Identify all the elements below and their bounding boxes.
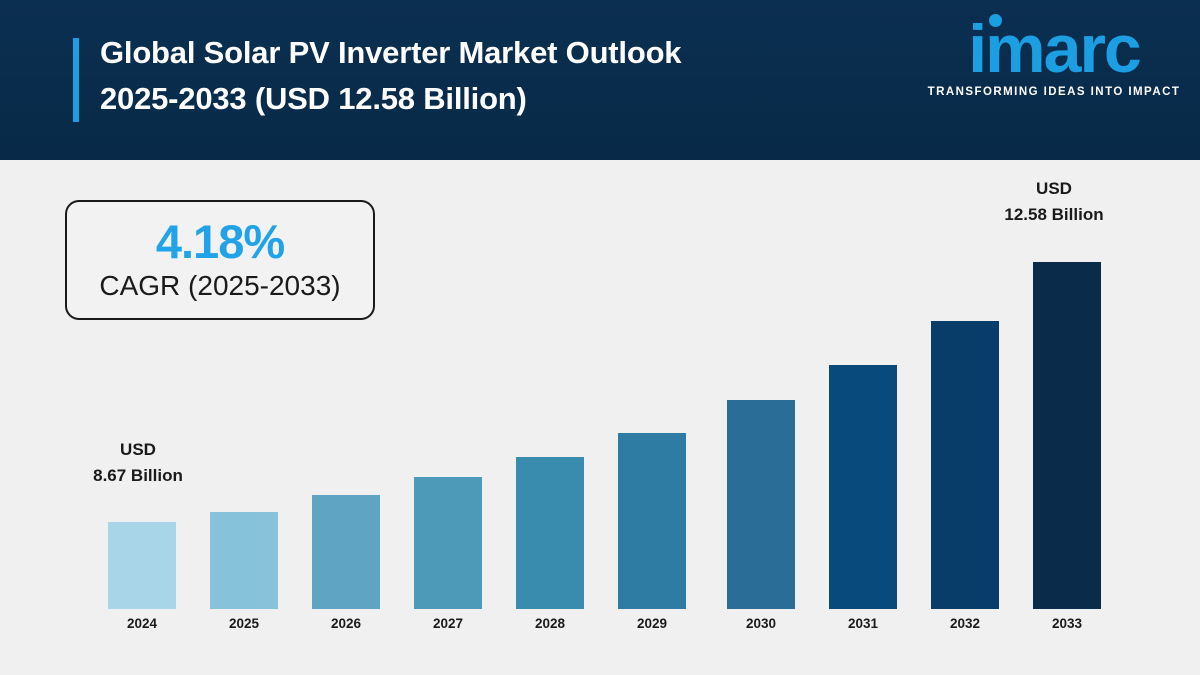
callout-start-unit: USD: [62, 437, 214, 463]
imarc-logo: imarc TRANSFORMING IDEAS INTO IMPACT: [920, 18, 1188, 110]
bar-2029: [618, 433, 686, 609]
x-axis-label-2025: 2025: [210, 615, 278, 633]
x-axis-label-2030: 2030: [727, 615, 795, 633]
bar-2030: [727, 400, 795, 609]
callout-end-value: USD 12.58 Billion: [978, 176, 1130, 228]
logo-dot-icon: [989, 14, 1002, 27]
x-axis-label-2028: 2028: [516, 615, 584, 633]
bar-2026: [312, 495, 380, 609]
x-axis-label-2026: 2026: [312, 615, 380, 633]
bar-2033: [1033, 262, 1101, 609]
page-header: Global Solar PV Inverter Market Outlook …: [0, 0, 1200, 160]
cagr-value: 4.18%: [156, 216, 284, 268]
bar-2027: [414, 477, 482, 609]
x-axis-label-2027: 2027: [414, 615, 482, 633]
bar-2025: [210, 512, 278, 609]
bar-2028: [516, 457, 584, 609]
x-axis-label-2032: 2032: [931, 615, 999, 633]
callout-end-amount: 12.58 Billion: [978, 202, 1130, 228]
cagr-badge: 4.18% CAGR (2025-2033): [65, 200, 375, 320]
callout-start-amount: 8.67 Billion: [62, 463, 214, 489]
x-axis-label-2029: 2029: [618, 615, 686, 633]
page-title-line-1: Global Solar PV Inverter Market Outlook: [100, 30, 860, 76]
bar-2031: [829, 365, 897, 609]
page-title-line-2: 2025-2033 (USD 12.58 Billion): [100, 76, 860, 122]
x-axis-label-2031: 2031: [829, 615, 897, 633]
callout-end-unit: USD: [978, 176, 1130, 202]
page-title: Global Solar PV Inverter Market Outlook …: [100, 30, 860, 122]
x-axis-label-2024: 2024: [108, 615, 176, 633]
logo-tagline: TRANSFORMING IDEAS INTO IMPACT: [920, 86, 1188, 98]
cagr-label: CAGR (2025-2033): [99, 268, 340, 304]
logo-wordmark-text: imarc: [920, 18, 1188, 80]
x-axis-label-2033: 2033: [1033, 615, 1101, 633]
bar-2032: [931, 321, 999, 609]
callout-start-value: USD 8.67 Billion: [62, 437, 214, 489]
header-accent-bar: [73, 38, 79, 122]
bar-2024: [108, 522, 176, 609]
